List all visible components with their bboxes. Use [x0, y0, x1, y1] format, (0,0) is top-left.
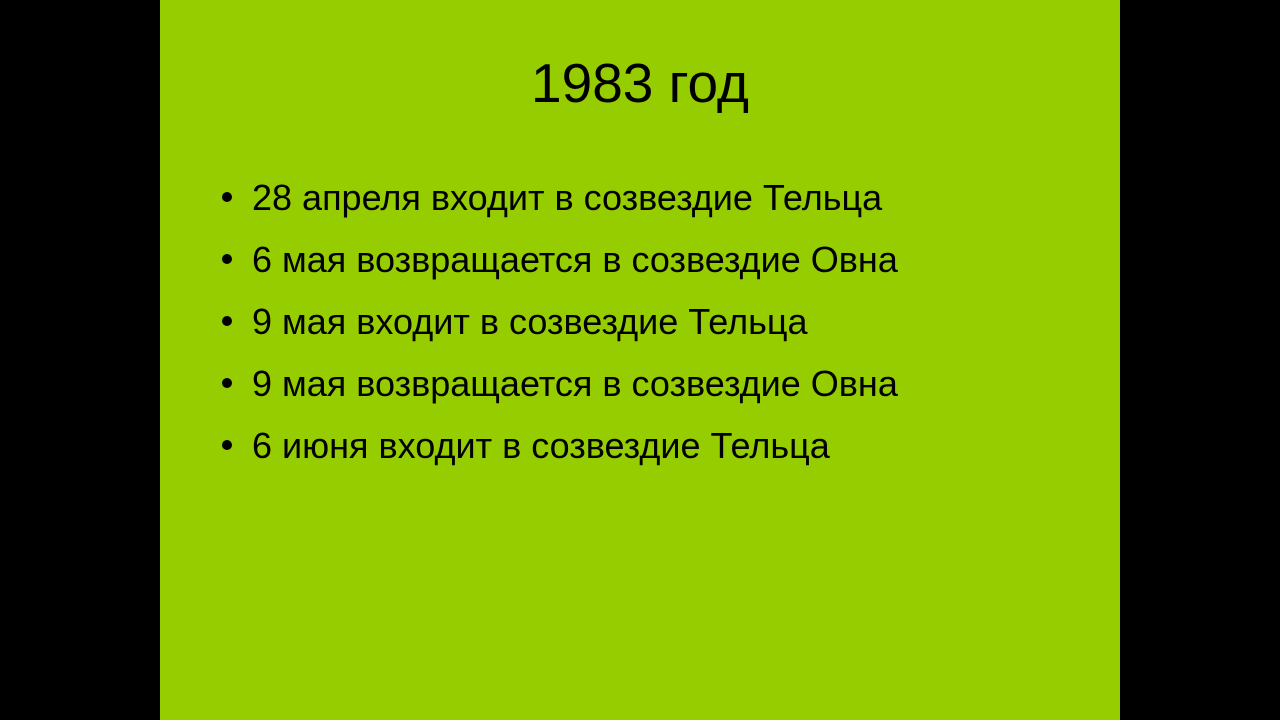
list-item: 9 мая входит в созвездие Тельца	[210, 300, 1110, 362]
slide-root: 1983 год 28 апреля входит в созвездие Те…	[0, 0, 1280, 720]
list-item: 28 апреля входит в созвездие Тельца	[210, 176, 1110, 238]
list-item-label: 28 апреля входит в созвездие Тельца	[252, 176, 882, 220]
list-item-label: 9 мая возвращается в созвездие Овна	[252, 362, 898, 406]
list-item-label: 6 июня входит в созвездие Тельца	[252, 424, 830, 468]
slide-content-panel: 1983 год 28 апреля входит в созвездие Те…	[160, 0, 1120, 720]
bullet-dot-icon	[222, 440, 232, 450]
bullet-dot-icon	[222, 378, 232, 388]
list-item: 6 мая возвращается в созвездие Овна	[210, 238, 1110, 300]
bullet-dot-icon	[222, 192, 232, 202]
bullet-dot-icon	[222, 316, 232, 326]
bullet-dot-icon	[222, 254, 232, 264]
list-item: 9 мая возвращается в созвездие Овна	[210, 362, 1110, 424]
list-item-label: 6 мая возвращается в созвездие Овна	[252, 238, 898, 282]
bullet-list: 28 апреля входит в созвездие Тельца 6 ма…	[210, 176, 1110, 486]
list-item-label: 9 мая входит в созвездие Тельца	[252, 300, 808, 344]
list-item: 6 июня входит в созвездие Тельца	[210, 424, 1110, 486]
page-title: 1983 год	[160, 52, 1120, 114]
